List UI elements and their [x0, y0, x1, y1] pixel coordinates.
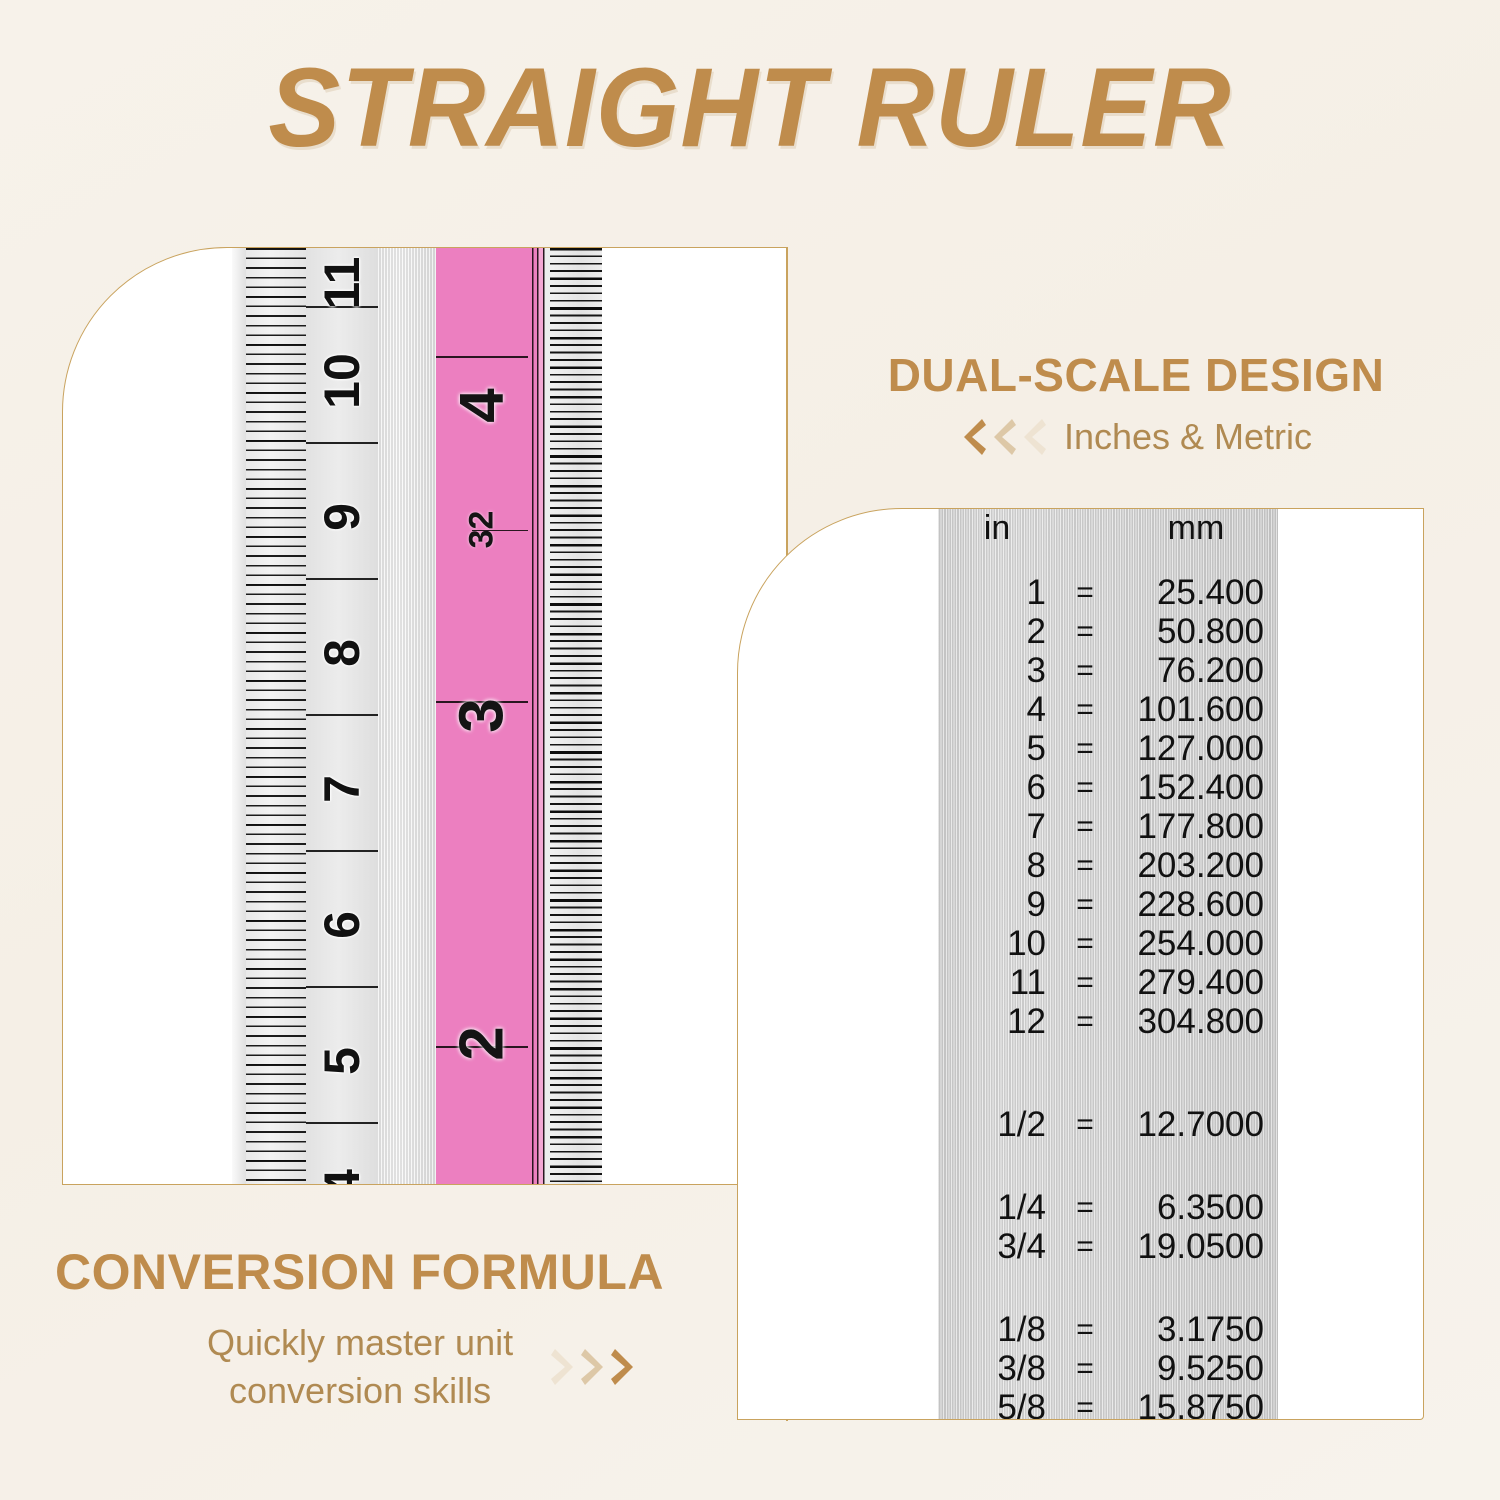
conversion-row: 4=101.600 [938, 690, 1278, 729]
conversion-row: 3/8=9.5250 [938, 1349, 1278, 1388]
metric-label-9: 9 [313, 481, 371, 553]
cell-equals: = [1056, 807, 1114, 846]
conversion-row: 8=203.200 [938, 846, 1278, 885]
cell-inches: 1/4 [938, 1188, 1056, 1227]
conversion-row: 3/4=19.0500 [938, 1227, 1278, 1266]
conversion-row: 11=279.400 [938, 963, 1278, 1002]
metric-label-10: 10 [313, 345, 371, 417]
cell-inches: 5 [938, 729, 1056, 768]
inch-label-4: 4 [447, 360, 518, 452]
conversion-subtitle-line2: conversion skills [229, 1370, 491, 1411]
cell-equals: = [1056, 963, 1114, 1002]
metric-label-4: 4 [313, 1147, 371, 1185]
cell-millimeters: 177.800 [1114, 807, 1278, 846]
cell-equals: = [1056, 729, 1114, 768]
conversion-row: 3=76.200 [938, 651, 1278, 690]
inch-label-3: 3 [447, 670, 518, 762]
cell-equals: = [1056, 1349, 1114, 1388]
cell-inches: 10 [938, 924, 1056, 963]
metric-label-7: 7 [313, 753, 371, 825]
header-spacer [1056, 509, 1114, 547]
chevron-group-right [551, 1347, 637, 1387]
cell-millimeters: 15.8750 [1114, 1388, 1278, 1420]
cell-inches: 3/4 [938, 1227, 1056, 1266]
conversion-row: 1=25.400 [938, 573, 1278, 612]
cell-equals: = [1056, 1388, 1114, 1420]
chevron-left-icon [1020, 417, 1046, 457]
conversion-row: 7=177.800 [938, 807, 1278, 846]
cell-inches: 5/8 [938, 1388, 1056, 1420]
conversion-formula-subtitle: Quickly master unit conversion skills [207, 1319, 513, 1414]
dual-scale-feature: DUAL-SCALE DESIGN Inches & Metric [826, 348, 1446, 458]
page-title: STRAIGHT RULER [30, 52, 1470, 164]
ruler-silver-face [378, 248, 436, 1185]
cell-millimeters: 101.600 [1114, 690, 1278, 729]
product-infographic: STRAIGHT RULER 11 10 9 8 7 6 5 [0, 0, 1500, 1500]
cell-equals: = [1056, 1002, 1114, 1041]
cell-equals: = [1056, 924, 1114, 963]
conversion-row: 1/4=6.3500 [938, 1188, 1278, 1227]
metric-label-5: 5 [313, 1025, 371, 1097]
conversion-table: in mm 1=25.4002=50.8003=76.2004=101.6005… [938, 509, 1278, 1420]
cell-equals: = [1056, 651, 1114, 690]
conversion-row: 12=304.800 [938, 1002, 1278, 1041]
header-mm: mm [1114, 509, 1278, 547]
conversion-subtitle-line1: Quickly master unit [207, 1322, 513, 1363]
cell-equals: = [1056, 1227, 1114, 1266]
cell-millimeters: 50.800 [1114, 612, 1278, 651]
conversion-formula-feature: CONVERSION FORMULA Quickly master unit c… [55, 1243, 755, 1414]
cell-equals: = [1056, 612, 1114, 651]
cell-inches: 1/2 [938, 1105, 1056, 1144]
cell-equals: = [1056, 1310, 1114, 1349]
row-gap [938, 1041, 1278, 1105]
cell-inches: 3 [938, 651, 1056, 690]
chevron-right-icon [611, 1347, 637, 1387]
fine-fraction-tick-scale [550, 248, 602, 1185]
conversion-row: 1/2=12.7000 [938, 1105, 1278, 1144]
metric-label-6: 6 [313, 889, 371, 961]
cell-millimeters: 152.400 [1114, 768, 1278, 807]
conversion-row: 9=228.600 [938, 885, 1278, 924]
dual-scale-heading: DUAL-SCALE DESIGN [826, 348, 1446, 402]
cell-millimeters: 25.400 [1114, 573, 1278, 612]
chevron-right-icon [551, 1347, 577, 1387]
cell-equals: = [1056, 846, 1114, 885]
header-gap [938, 547, 1278, 573]
ruler-left-edge [232, 248, 246, 1185]
conversion-row: 1/8=3.1750 [938, 1310, 1278, 1349]
conversion-formula-heading: CONVERSION FORMULA [55, 1243, 755, 1301]
cell-equals: = [1056, 573, 1114, 612]
chevron-left-icon [990, 417, 1016, 457]
cell-inches: 12 [938, 1002, 1056, 1041]
cell-millimeters: 203.200 [1114, 846, 1278, 885]
dual-scale-subtitle: Inches & Metric [1064, 416, 1312, 458]
cell-equals: = [1056, 1188, 1114, 1227]
metric-number-scale: 11 10 9 8 7 6 5 4 [306, 248, 378, 1185]
metric-tick-scale [246, 248, 306, 1185]
cell-millimeters: 254.000 [1114, 924, 1278, 963]
cell-millimeters: 6.3500 [1114, 1188, 1278, 1227]
cell-millimeters: 228.600 [1114, 885, 1278, 924]
cell-equals: = [1056, 885, 1114, 924]
cell-millimeters: 12.7000 [1114, 1105, 1278, 1144]
conversion-table-card: in mm 1=25.4002=50.8003=76.2004=101.6005… [737, 508, 1424, 1420]
cell-millimeters: 19.0500 [1114, 1227, 1278, 1266]
inch-scale-band: 4 3 2 32 [436, 248, 528, 1185]
cell-inches: 3/8 [938, 1349, 1056, 1388]
cell-inches: 1/8 [938, 1310, 1056, 1349]
cell-equals: = [1056, 768, 1114, 807]
cell-inches: 1 [938, 573, 1056, 612]
cell-inches: 8 [938, 846, 1056, 885]
chevron-group-left [960, 417, 1046, 457]
cell-millimeters: 127.000 [1114, 729, 1278, 768]
cell-inches: 11 [938, 963, 1056, 1002]
ruler-photo-card: 11 10 9 8 7 6 5 4 4 3 2 32 [62, 247, 787, 1185]
conversion-row: 10=254.000 [938, 924, 1278, 963]
cell-millimeters: 3.1750 [1114, 1310, 1278, 1349]
cell-millimeters: 279.400 [1114, 963, 1278, 1002]
cell-inches: 9 [938, 885, 1056, 924]
conversion-row: 5/8=15.8750 [938, 1388, 1278, 1420]
metric-label-8: 8 [313, 617, 371, 689]
cell-inches: 2 [938, 612, 1056, 651]
cell-millimeters: 9.5250 [1114, 1349, 1278, 1388]
cell-equals: = [1056, 690, 1114, 729]
cell-millimeters: 76.200 [1114, 651, 1278, 690]
ruler-image: 11 10 9 8 7 6 5 4 4 3 2 32 [246, 248, 602, 1185]
header-in: in [938, 509, 1056, 547]
conversion-row: 6=152.400 [938, 768, 1278, 807]
row-gap [938, 1144, 1278, 1188]
cell-equals: = [1056, 1105, 1114, 1144]
metal-plate-background: in mm 1=25.4002=50.8003=76.2004=101.6005… [938, 509, 1278, 1420]
cell-inches: 7 [938, 807, 1056, 846]
metric-label-11: 11 [313, 247, 371, 319]
conversion-row: 5=127.000 [938, 729, 1278, 768]
table-header-row: in mm [938, 509, 1278, 547]
cell-millimeters: 304.800 [1114, 1002, 1278, 1041]
cell-inches: 4 [938, 690, 1056, 729]
chevron-right-icon [581, 1347, 607, 1387]
cell-inches: 6 [938, 768, 1056, 807]
inch-scale-edge-stripes [528, 248, 550, 1185]
chevron-left-icon [960, 417, 986, 457]
row-gap [938, 1266, 1278, 1310]
conversion-row: 2=50.800 [938, 612, 1278, 651]
inch-label-2: 2 [447, 998, 518, 1090]
